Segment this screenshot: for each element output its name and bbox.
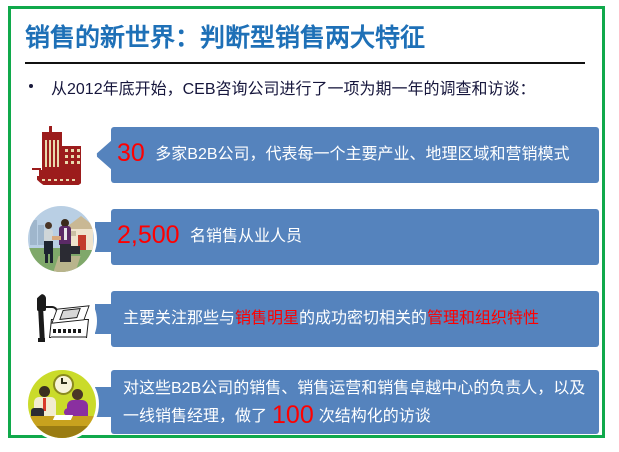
fact-label-3a: 主要关注那些与	[123, 310, 235, 327]
building-icon	[28, 124, 94, 190]
fact-text-1: 30 多家B2B公司，代表每一个主要产业、地理区域和营销模式	[117, 141, 570, 168]
bullet-dot-icon	[29, 84, 33, 88]
fact-text-2: 2,500 名销售从业人员	[117, 223, 302, 250]
handshake-photo-icon	[28, 206, 94, 272]
fact-bar-2-point	[95, 222, 112, 252]
intro-bullet-row: 从2012年底开始，CEB咨询公司进行了一项为期一年的调查和访谈：	[25, 75, 595, 103]
fact-number-1: 30	[117, 139, 145, 167]
meeting-icon	[28, 370, 96, 438]
title-divider	[25, 62, 585, 64]
fact-text-4: 对这些B2B公司的销售、销售运营和销售卓越中心的负责人，以及 一线销售经理，做了…	[123, 375, 585, 431]
fact-label-1: 多家B2B公司，代表每一个主要产业、地理区域和营销模式	[155, 146, 569, 163]
fact-bar-1-point	[95, 140, 112, 170]
fact-row-1: 30 多家B2B公司，代表每一个主要产业、地理区域和营销模式	[11, 119, 602, 191]
fact-text-3: 主要关注那些与销售明星的成功密切相关的管理和组织特性	[123, 305, 539, 332]
fact-label-4b: 次结构化的访谈	[319, 408, 431, 425]
fact-label-3b: 的成功密切相关的	[299, 310, 427, 327]
fact-row-4: 对这些B2B公司的销售、销售运营和销售卓越中心的负责人，以及 一线销售经理，做了…	[11, 365, 602, 443]
fact-row-3: 主要关注那些与销售明星的成功密切相关的管理和组织特性	[11, 283, 602, 355]
fact-label-4a: 一线销售经理，做了	[123, 408, 267, 425]
fact-label-4-line1: 对这些B2B公司的销售、销售运营和销售卓越中心的负责人，以及	[123, 375, 585, 403]
slide-frame: 销售的新世界：判断型销售两大特征 从2012年底开始，CEB咨询公司进行了一项为…	[8, 6, 605, 438]
fact-number-2: 2,500	[117, 221, 180, 249]
fact-label-4-line2: 一线销售经理，做了100次结构化的访谈	[123, 403, 585, 431]
microphone-recorder-icon	[28, 288, 94, 354]
title-area: 销售的新世界：判断型销售两大特征	[11, 9, 602, 61]
fact-number-4: 100	[272, 401, 314, 429]
fact-row-2: 2,500 名销售从业人员	[11, 201, 602, 273]
fact-bar-3-point	[95, 304, 112, 334]
fact-highlight-3b: 管理和组织特性	[427, 310, 539, 327]
fact-highlight-3a: 销售明星	[235, 310, 299, 327]
intro-bullet-text: 从2012年底开始，CEB咨询公司进行了一项为期一年的调查和访谈：	[51, 75, 536, 99]
page-title: 销售的新世界：判断型销售两大特征	[25, 18, 425, 54]
fact-label-2: 名销售从业人员	[190, 228, 302, 245]
